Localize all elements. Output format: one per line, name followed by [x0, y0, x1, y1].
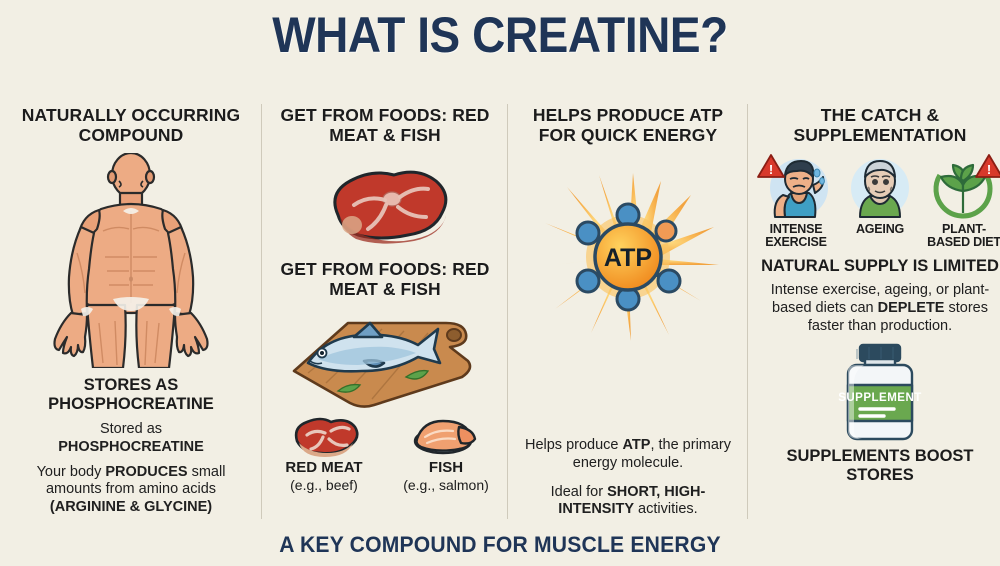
- column-1-texts: STORES AS PHOSPHOCREATINE Stored as PHOS…: [8, 376, 254, 516]
- run-ideal-for: Ideal for: [551, 484, 607, 500]
- steak-icon: [310, 155, 460, 250]
- run-arginine-glycine: (ARGININE & GLYCINE): [50, 499, 212, 515]
- atp-molecule-burst-icon: ATP: [533, 169, 723, 344]
- risk-item-intense-exercise: ! INTENSE EXERCISE: [756, 151, 836, 249]
- column-3-heading: HELPS PRODUCE ATP FOR QUICK ENERGY: [516, 106, 740, 145]
- stored-as-prefix: Stored as: [100, 421, 162, 437]
- risk-icons-row: ! INTENSE EXERCISE: [756, 151, 1000, 249]
- deplete-description-text: Intense exercise, ageing, or plant-based…: [756, 282, 1000, 335]
- infographic-page: WHAT IS CREATINE? NATURALLY OCCURRING CO…: [0, 0, 1000, 566]
- risk-label-intense-exercise: INTENSE EXERCISE: [756, 223, 836, 249]
- svg-text:!: !: [769, 162, 773, 177]
- run-helps-produce: Helps produce: [525, 437, 623, 453]
- produces-amino-acids-text: Your body PRODUCES small amounts from am…: [8, 464, 254, 517]
- atp-usecase-text: Ideal for SHORT, HIGH-INTENSITY activiti…: [516, 484, 740, 519]
- phosphocreatine-bold: PHOSPHOCREATINE: [58, 439, 204, 455]
- salmon-fillet-icon: [409, 413, 483, 459]
- column-get-from-foods: GET FROM FOODS: RED MEAT & FISH: [262, 100, 508, 525]
- food-detail-red-meat: (e.g., beef): [290, 477, 358, 493]
- column-2-heading-2: GET FROM FOODS: RED MEAT & FISH: [270, 260, 500, 299]
- column-4-heading: THE CATCH & SUPPLEMENTATION: [756, 106, 1000, 145]
- columns-container: NATURALLY OCCURRING COMPOUND: [0, 100, 1000, 525]
- column-4-texts: NATURAL SUPPLY IS LIMITED Intense exerci…: [756, 257, 1000, 335]
- column-1-heading: NATURALLY OCCURRING COMPOUND: [8, 106, 254, 145]
- food-item-fish: FISH (e.g., salmon): [392, 413, 500, 493]
- column-naturally-occurring: NATURALLY OCCURRING COMPOUND: [0, 100, 262, 525]
- red-meat-steak-icon: [287, 413, 361, 459]
- risk-label-ageing: AGEING: [856, 223, 904, 236]
- page-footer: A KEY COMPOUND FOR MUSCLE ENERGY: [20, 532, 980, 558]
- natural-supply-subheading: NATURAL SUPPLY IS LIMITED: [761, 257, 999, 276]
- risk-item-plant-based-diet: ! PLANT-BASED DIET: [924, 151, 1000, 249]
- stores-as-phosphocreatine-label: STORES AS PHOSPHOCREATINE: [8, 376, 254, 414]
- stored-as-line: Stored as PHOSPHOCREATINE: [58, 421, 204, 456]
- food-label-fish: FISH: [429, 460, 463, 477]
- fish-on-cutting-board-icon: [278, 301, 493, 411]
- tired-athlete-icon: !: [757, 151, 835, 221]
- run-atp: ATP: [623, 437, 651, 453]
- svg-text:!: !: [987, 162, 991, 177]
- column-2-heading: GET FROM FOODS: RED MEAT & FISH: [270, 106, 500, 145]
- column-3-texts: Helps produce ATP, the primary energy mo…: [516, 437, 740, 519]
- human-body-muscles-icon: [31, 153, 231, 368]
- column-helps-produce-atp: HELPS PRODUCE ATP FOR QUICK ENERGY: [508, 100, 748, 525]
- food-label-red-meat: RED MEAT: [285, 460, 362, 477]
- column-the-catch: THE CATCH & SUPPLEMENTATION: [748, 100, 1000, 525]
- run-produces: PRODUCES: [105, 464, 187, 480]
- food-item-red-meat: RED MEAT (e.g., beef): [270, 413, 378, 493]
- run-activities: activities.: [634, 501, 698, 517]
- risk-label-plant-based-diet: PLANT-BASED DIET: [924, 223, 1000, 249]
- page-title: WHAT IS CREATINE?: [40, 6, 960, 64]
- elderly-person-icon: [844, 151, 916, 221]
- run-your-body: Your body: [37, 464, 106, 480]
- food-detail-fish: (e.g., salmon): [403, 477, 489, 493]
- atp-description-text: Helps produce ATP, the primary energy mo…: [516, 437, 740, 472]
- plant-sprout-icon: !: [923, 151, 1000, 221]
- run-deplete: DEPLETE: [878, 300, 945, 316]
- supplement-bottle-icon: SUPPLEMENT: [832, 341, 928, 443]
- risk-item-ageing: AGEING: [840, 151, 920, 236]
- food-examples-row: RED MEAT (e.g., beef): [270, 413, 500, 493]
- supplements-boost-stores-label: SUPPLEMENTS BOOST STORES: [756, 447, 1000, 485]
- atp-molecule-label: ATP: [604, 244, 652, 272]
